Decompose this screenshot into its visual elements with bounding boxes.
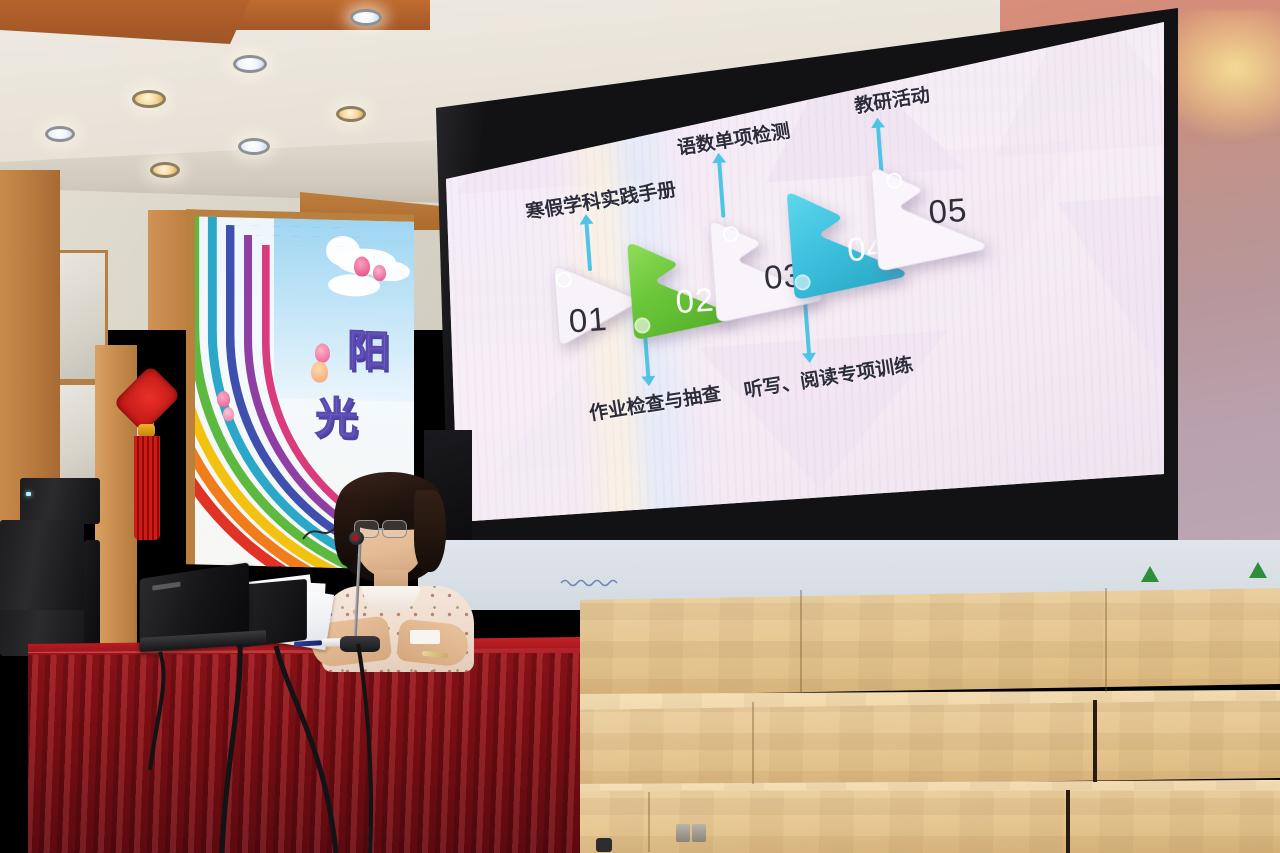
balloon-shape (217, 391, 230, 407)
balloon-shape (223, 407, 234, 421)
balloon-shape (311, 361, 328, 382)
laptop-logo (152, 582, 180, 591)
balloon-shape (354, 256, 370, 276)
bleacher-gap (1093, 700, 1097, 782)
balloon-shape (315, 343, 330, 362)
microphone-head (349, 531, 364, 545)
eyeglasses-lens (382, 520, 407, 538)
loudspeaker-top (20, 478, 100, 524)
step-number-05: 05 (927, 191, 969, 232)
tree-decoration (1141, 566, 1159, 582)
bleacher-hinge (692, 824, 706, 842)
bleacher-riser-bottom (540, 790, 1280, 853)
ceiling-light (150, 162, 180, 178)
photo-scene: 阳 光 (0, 0, 1280, 853)
tree-decoration (1249, 562, 1267, 578)
speaker-led (26, 492, 31, 496)
equipment-case (84, 540, 100, 646)
bleacher-riser-top (580, 588, 1280, 696)
mural-character-bottom: 光 (315, 383, 358, 446)
ceiling-light (238, 138, 270, 155)
hair-side (414, 490, 446, 572)
ceiling-light (132, 90, 166, 108)
bleacher-seam (800, 590, 802, 692)
bleacher-seam (648, 792, 650, 852)
ceiling-light (45, 126, 75, 142)
bleacher-seam (1105, 588, 1107, 692)
bleacher-gap (1066, 790, 1070, 853)
ceiling-light (350, 9, 382, 26)
wood-column (148, 210, 190, 330)
loudspeaker-main (0, 520, 84, 616)
step-chevron-05: 05 (865, 160, 991, 274)
wave-decoration (560, 578, 622, 587)
balloon-shape (373, 265, 386, 281)
wall-light-glow (1175, 10, 1280, 140)
ceiling-light (336, 106, 366, 122)
eyeglasses-bridge (379, 528, 384, 530)
bleacher-riser-mid (560, 700, 1280, 788)
mural-character-top: 阳 (347, 316, 390, 379)
cable-group (130, 630, 450, 853)
bleacher-caster (596, 838, 612, 852)
bleacher-seam (752, 702, 754, 784)
chevron-shape (865, 160, 991, 274)
chinese-knot-decoration (118, 368, 176, 548)
bleacher-hinge (676, 824, 690, 842)
ceiling-light (233, 55, 267, 73)
step-number-01: 01 (567, 300, 609, 341)
